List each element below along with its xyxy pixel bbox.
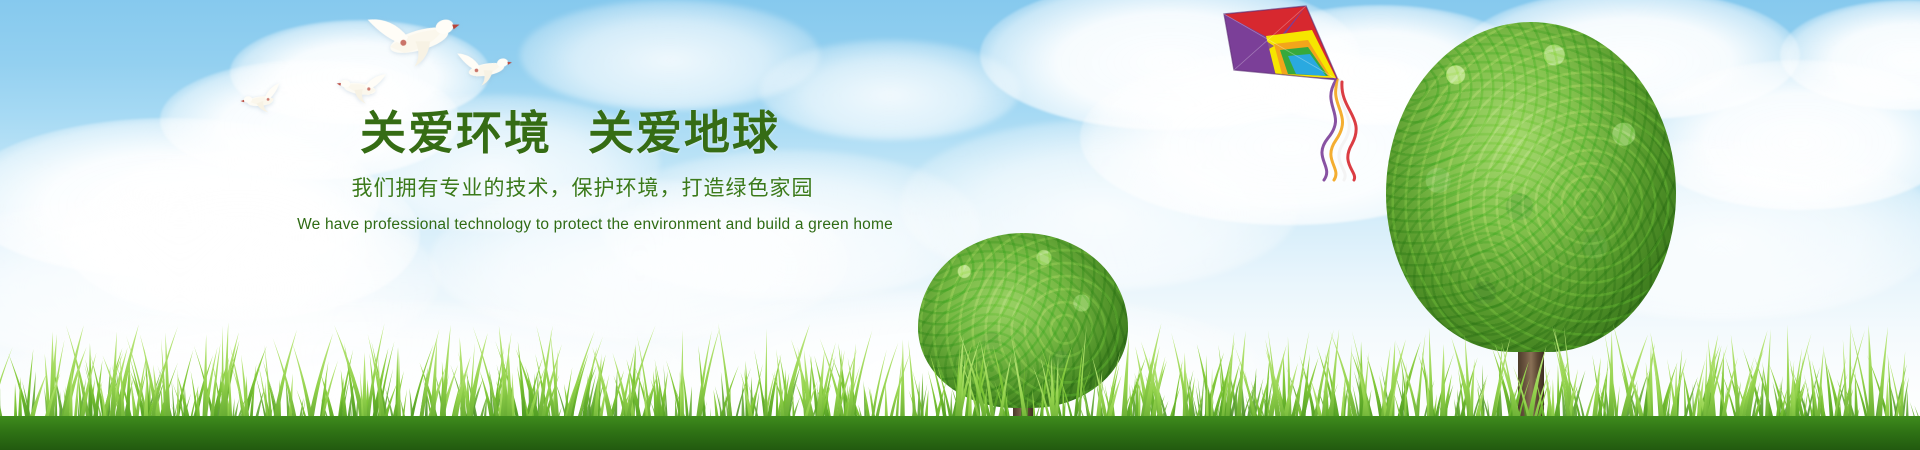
page-title: 关爱环境 关爱地球	[0, 110, 1140, 156]
grass-foreground	[0, 300, 1920, 450]
dove-icon	[334, 67, 390, 108]
subtitle-chinese: 我们拥有专业的技术，保护环境，打造绿色家园	[0, 178, 1165, 199]
hero-banner: 关爱环境 关爱地球 我们拥有专业的技术，保护环境，打造绿色家园 We have …	[0, 0, 1920, 450]
grass-base-strip	[0, 416, 1920, 450]
subtitle-english: We have professional technology to prote…	[0, 217, 1190, 233]
